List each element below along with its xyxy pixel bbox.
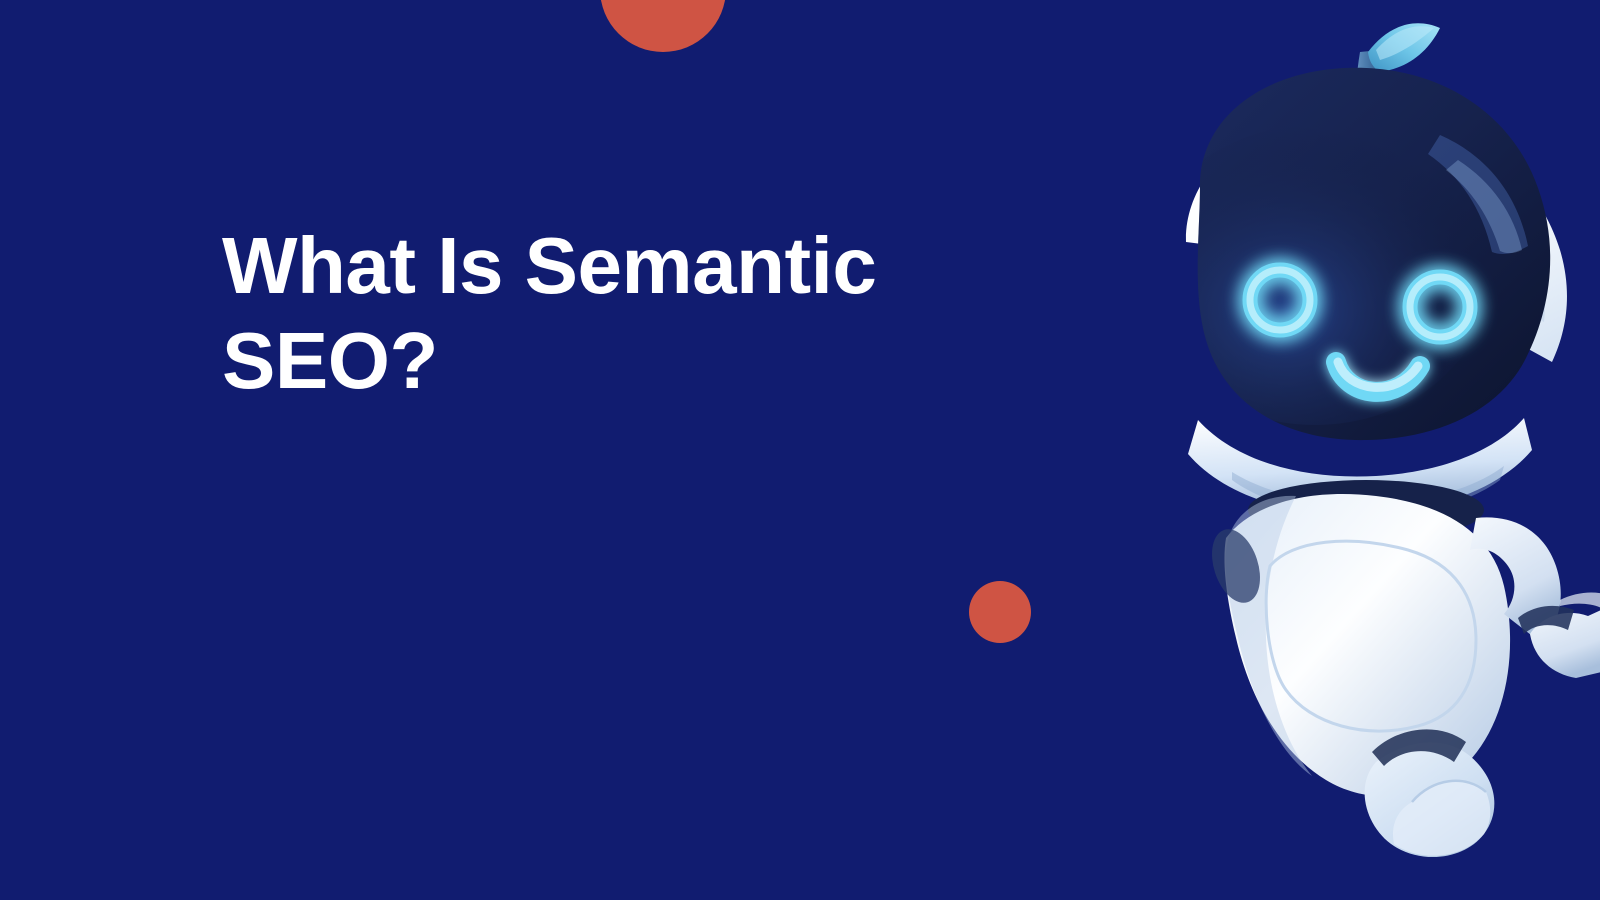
page-title: What Is Semantic SEO? — [222, 218, 982, 408]
robot-mascot — [1140, 10, 1600, 840]
slide-canvas: What Is Semantic SEO? — [0, 0, 1600, 900]
decorative-circle-middle — [969, 581, 1031, 643]
torso — [1203, 494, 1510, 796]
decorative-circle-top — [600, 0, 726, 52]
